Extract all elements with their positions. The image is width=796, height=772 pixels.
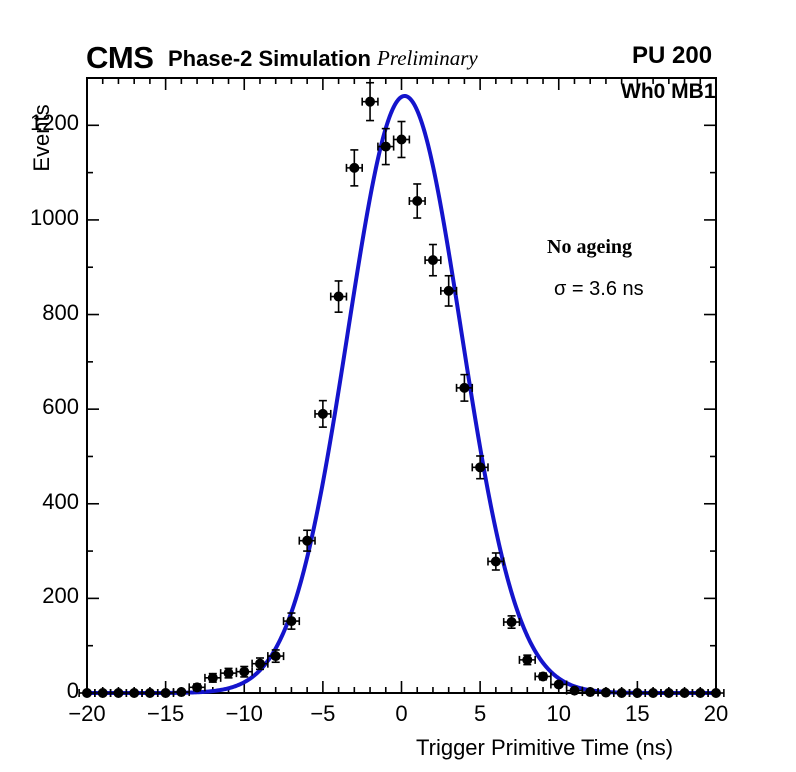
axis-frame [87,78,716,693]
axis-ticks [87,78,716,693]
fit-curve [87,96,716,693]
error-bars [79,83,724,697]
data-points [83,97,721,697]
plot-graphics [0,0,796,772]
plot-canvas: CMS Phase-2 Simulation Preliminary PU 20… [0,0,796,772]
